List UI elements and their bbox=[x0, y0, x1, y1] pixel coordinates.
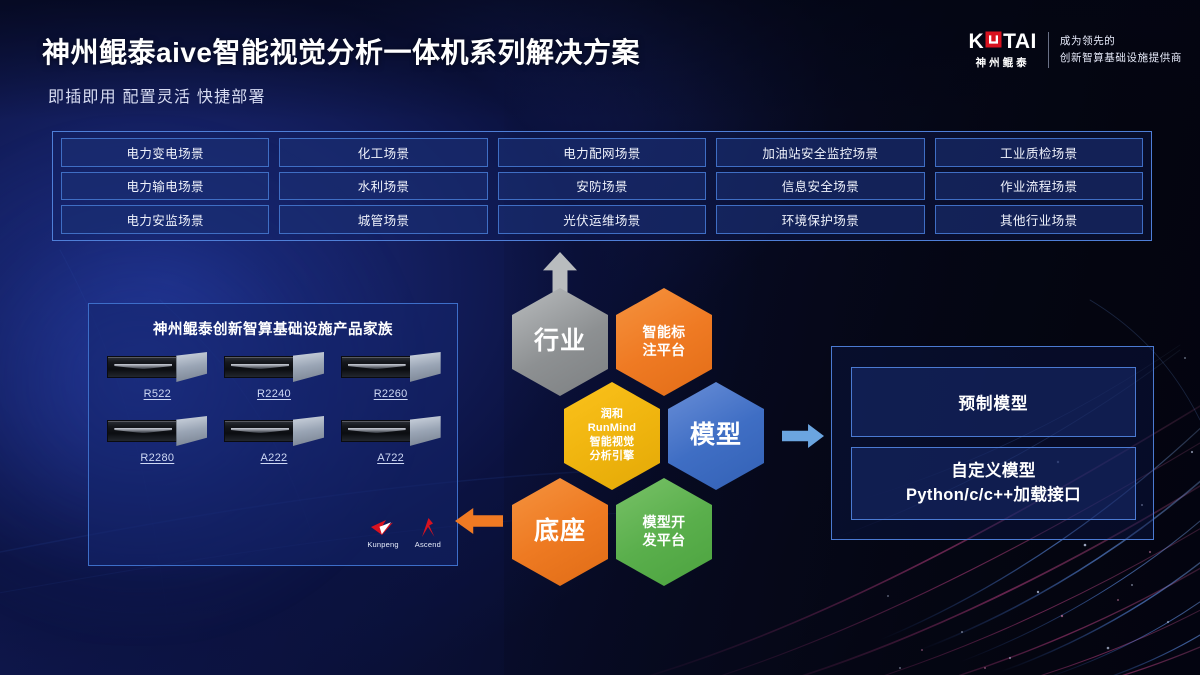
product-item[interactable]: R522 bbox=[99, 352, 216, 400]
scenario-cell[interactable]: 光伏运维场景 bbox=[498, 205, 706, 234]
product-item[interactable]: R2260 bbox=[332, 352, 449, 400]
scenario-cell[interactable]: 其他行业场景 bbox=[935, 205, 1143, 234]
scenario-cell[interactable]: 化工场景 bbox=[279, 138, 487, 167]
product-item[interactable]: R2240 bbox=[216, 352, 333, 400]
brand-tagline-line1: 成为领先的 bbox=[1060, 35, 1182, 48]
server-image bbox=[341, 416, 441, 444]
page-subtitle: 即插即用 配置灵活 快捷部署 bbox=[48, 83, 266, 107]
chip-partner-logos: Kunpeng Ascend bbox=[367, 518, 441, 549]
product-family-panel: 神州鲲泰创新智算基础设施产品家族 R522R2240R2260R2280A222… bbox=[88, 303, 458, 566]
page-title: 神州鲲泰aive智能视觉分析一体机系列解决方案 bbox=[42, 31, 640, 71]
kunpeng-bird-icon bbox=[370, 518, 396, 538]
server-image bbox=[107, 352, 207, 380]
product-label: A722 bbox=[377, 452, 404, 464]
server-image bbox=[341, 352, 441, 380]
brand-letter-k: K bbox=[968, 31, 984, 52]
brand-letters-tai: TAI bbox=[1003, 31, 1037, 52]
hexagon-base-label: 底座 bbox=[534, 516, 586, 548]
server-image bbox=[107, 416, 207, 444]
brand-tagline: 成为领先的 创新智算基础设施提供商 bbox=[1049, 35, 1182, 64]
scenario-cell[interactable]: 环境保护场景 bbox=[716, 205, 924, 234]
model-panel: 预制模型 自定义模型 Python/c/c++加载接口 bbox=[831, 346, 1154, 540]
server-image bbox=[224, 416, 324, 444]
preset-model-label: 预制模型 bbox=[959, 390, 1029, 414]
kunpeng-label: Kunpeng bbox=[367, 540, 398, 549]
brand-logo-wordmark: K TAI bbox=[968, 31, 1036, 52]
scenario-cell[interactable]: 电力输电场景 bbox=[61, 172, 269, 201]
ascend-logo: Ascend bbox=[415, 518, 441, 549]
scenario-cell[interactable]: 信息安全场景 bbox=[716, 172, 924, 201]
product-label: R2260 bbox=[374, 388, 408, 400]
page-header: 神州鲲泰aive智能视觉分析一体机系列解决方案 即插即用 配置灵活 快捷部署 K… bbox=[0, 0, 1200, 120]
scenario-cell[interactable]: 水利场景 bbox=[279, 172, 487, 201]
product-item[interactable]: R2280 bbox=[99, 416, 216, 464]
kunpeng-logo: Kunpeng bbox=[367, 518, 398, 549]
scenario-cell[interactable]: 作业流程场景 bbox=[935, 172, 1143, 201]
brand-logo: K TAI 神州鲲泰 成为领先的 创新智算基础设施提供商 bbox=[968, 26, 1182, 74]
scenario-cell[interactable]: 安防场景 bbox=[498, 172, 706, 201]
product-label: R2280 bbox=[140, 452, 174, 464]
product-label: R522 bbox=[144, 388, 172, 400]
custom-model-box[interactable]: 自定义模型 Python/c/c++加载接口 bbox=[851, 447, 1136, 520]
product-label: A222 bbox=[261, 452, 288, 464]
product-item[interactable]: A222 bbox=[216, 416, 333, 464]
scenario-cell[interactable]: 电力安监场景 bbox=[61, 205, 269, 234]
hexagon-dev-platform-label: 模型开 发平台 bbox=[643, 514, 686, 549]
product-label: R2240 bbox=[257, 388, 291, 400]
scenario-cell[interactable]: 工业质检场景 bbox=[935, 138, 1143, 167]
scenario-cell[interactable]: 加油站安全监控场景 bbox=[716, 138, 924, 167]
scenario-cell[interactable]: 电力变电场景 bbox=[61, 138, 269, 167]
product-grid: R522R2240R2260R2280A222A722 bbox=[99, 352, 449, 464]
scenario-panel: 电力变电场景化工场景电力配网场景加油站安全监控场景工业质检场景电力输电场景水利场… bbox=[52, 131, 1152, 241]
hexagon-model-label: 模型 bbox=[690, 420, 742, 452]
brand-tagline-line2: 创新智算基础设施提供商 bbox=[1060, 52, 1182, 65]
product-family-title: 神州鲲泰创新智算基础设施产品家族 bbox=[89, 318, 457, 339]
ascend-a-icon bbox=[417, 518, 439, 538]
brand-logo-left: K TAI 神州鲲泰 bbox=[968, 31, 1047, 70]
brand-square-icon bbox=[985, 31, 1002, 52]
brand-logo-chinese: 神州鲲泰 bbox=[976, 55, 1030, 70]
hexagon-engine-label: 润和 RunMind 智能视觉 分析引擎 bbox=[588, 408, 636, 463]
scenario-grid: 电力变电场景化工场景电力配网场景加油站安全监控场景工业质检场景电力输电场景水利场… bbox=[61, 138, 1143, 234]
product-item[interactable]: A722 bbox=[332, 416, 449, 464]
ascend-label: Ascend bbox=[415, 540, 441, 549]
hexagon-industry-label: 行业 bbox=[534, 326, 586, 358]
scenario-cell[interactable]: 电力配网场景 bbox=[498, 138, 706, 167]
server-image bbox=[224, 352, 324, 380]
hexagon-annotation-platform-label: 智能标 注平台 bbox=[643, 324, 686, 359]
scenario-cell[interactable]: 城管场景 bbox=[279, 205, 487, 234]
custom-model-label: 自定义模型 Python/c/c++加载接口 bbox=[906, 460, 1081, 506]
preset-model-box[interactable]: 预制模型 bbox=[851, 367, 1136, 437]
